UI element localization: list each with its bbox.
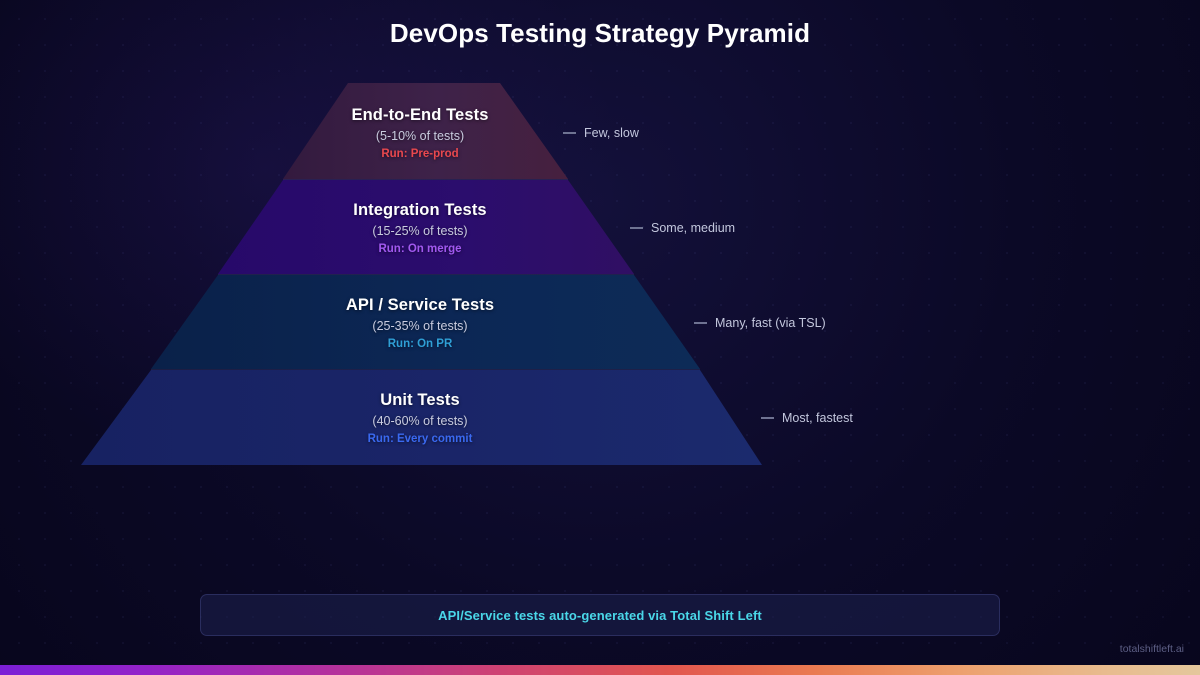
tier-3-percent: (25-35% of tests) bbox=[240, 319, 600, 333]
tier-1-percent: (5-10% of tests) bbox=[240, 129, 600, 143]
tier-3-run: Run: On PR bbox=[240, 338, 600, 350]
annotation-tier-3-text: Many, fast (via TSL) bbox=[715, 316, 826, 330]
watermark: totalshiftleft.ai bbox=[1120, 643, 1184, 655]
annotation-tier-1: Few, slow bbox=[563, 126, 639, 140]
tier-4-percent: (40-60% of tests) bbox=[240, 414, 600, 428]
dash-icon bbox=[563, 132, 576, 133]
annotation-tier-2: Some, medium bbox=[630, 221, 735, 235]
annotation-tier-4-text: Most, fastest bbox=[782, 411, 853, 425]
dash-icon bbox=[761, 417, 774, 418]
tier-4-run: Run: Every commit bbox=[240, 433, 600, 445]
dash-icon bbox=[694, 322, 707, 323]
annotation-tier-2-text: Some, medium bbox=[651, 221, 735, 235]
pyramid-tier-2[interactable]: Integration Tests (15-25% of tests) Run:… bbox=[240, 201, 600, 255]
tier-4-name: Unit Tests bbox=[240, 391, 600, 410]
tier-2-run: Run: On merge bbox=[240, 243, 600, 255]
tier-1-name: End-to-End Tests bbox=[240, 106, 600, 125]
pyramid-tier-3[interactable]: API / Service Tests (25-35% of tests) Ru… bbox=[240, 296, 600, 350]
pyramid-tier-4[interactable]: Unit Tests (40-60% of tests) Run: Every … bbox=[240, 391, 600, 445]
footer-banner: API/Service tests auto-generated via Tot… bbox=[200, 594, 1000, 636]
annotation-tier-4: Most, fastest bbox=[761, 411, 853, 425]
annotation-tier-1-text: Few, slow bbox=[584, 126, 639, 140]
dash-icon bbox=[630, 227, 643, 228]
tier-2-name: Integration Tests bbox=[240, 201, 600, 220]
tier-1-run: Run: Pre-prod bbox=[240, 148, 600, 160]
tier-3-name: API / Service Tests bbox=[240, 296, 600, 315]
pyramid-diagram: End-to-End Tests (5-10% of tests) Run: P… bbox=[0, 0, 1200, 675]
bottom-gradient-bar bbox=[0, 665, 1200, 675]
annotation-tier-3: Many, fast (via TSL) bbox=[694, 316, 826, 330]
tier-2-percent: (15-25% of tests) bbox=[240, 224, 600, 238]
pyramid-tier-1[interactable]: End-to-End Tests (5-10% of tests) Run: P… bbox=[240, 106, 600, 160]
pyramid-shape bbox=[0, 0, 1200, 675]
footer-banner-text: API/Service tests auto-generated via Tot… bbox=[438, 608, 762, 623]
